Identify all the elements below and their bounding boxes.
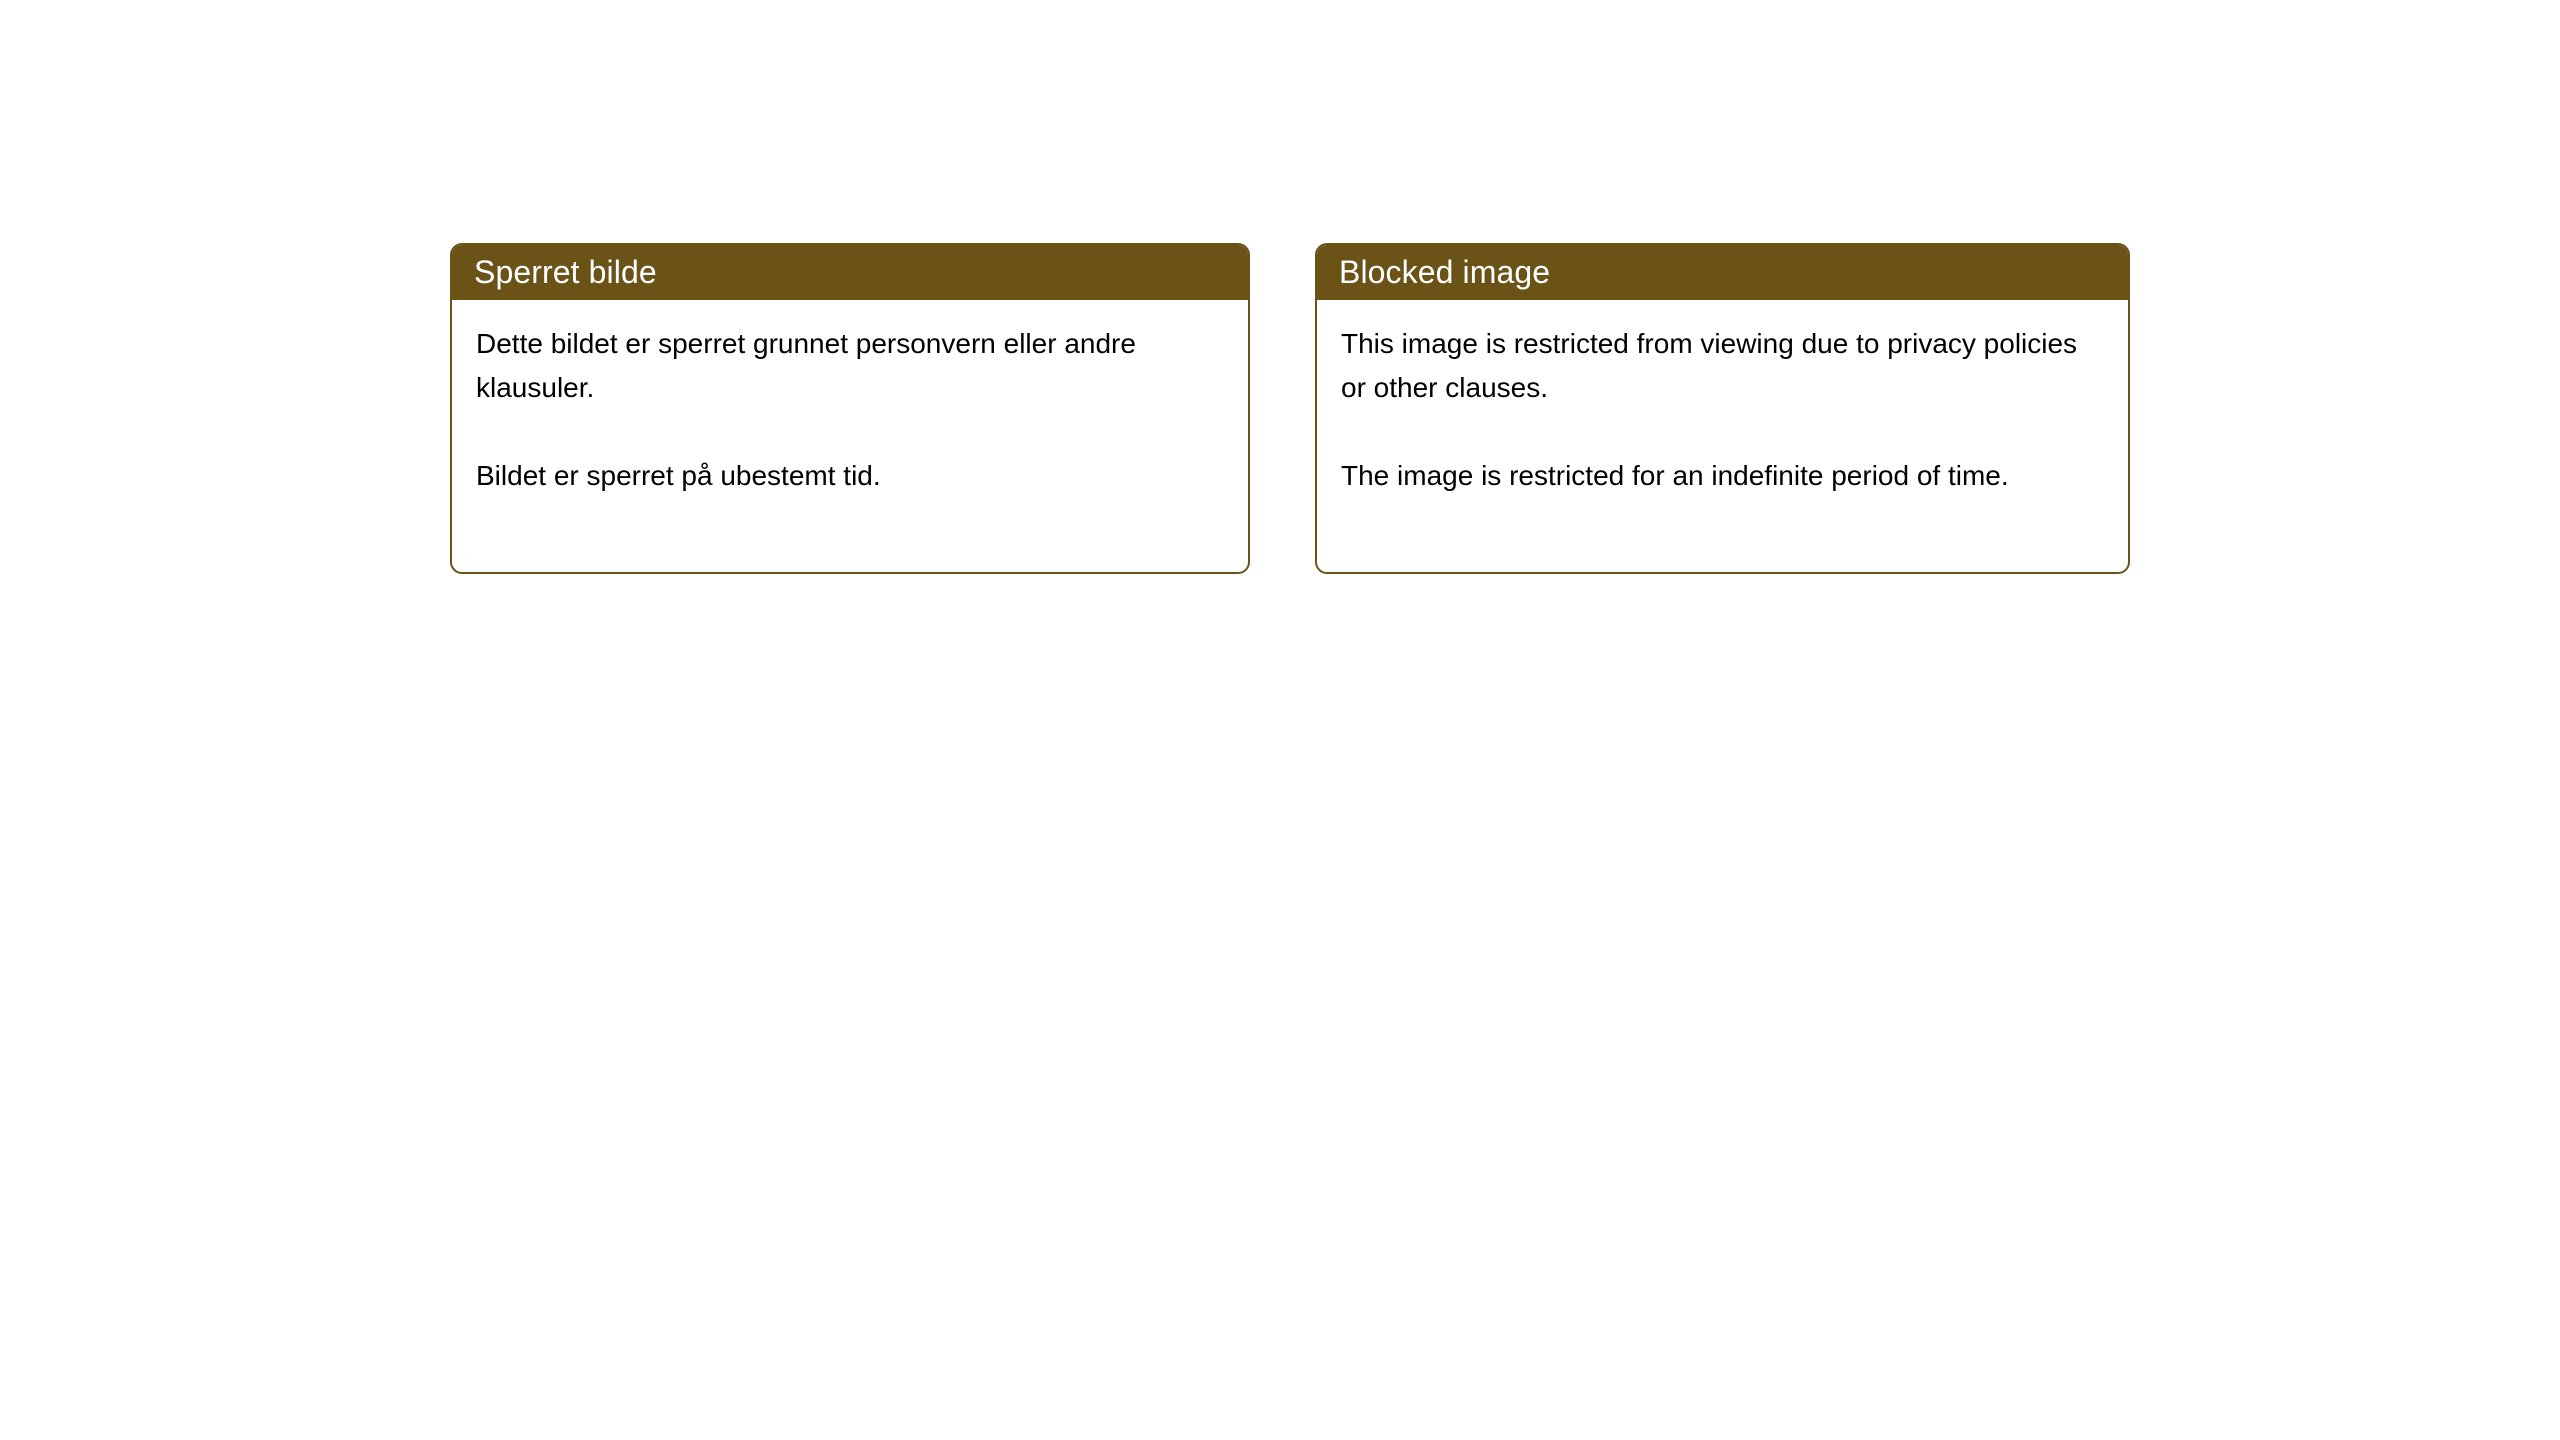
card-title-english: Blocked image — [1339, 256, 1550, 288]
card-body-english: This image is restricted from viewing du… — [1317, 300, 2128, 498]
card-header-english: Blocked image — [1315, 243, 2130, 300]
card-paragraph-primary-norwegian: Dette bildet er sperret grunnet personve… — [476, 322, 1222, 410]
card-header-norwegian: Sperret bilde — [450, 243, 1250, 300]
card-paragraph-secondary-norwegian: Bildet er sperret på ubestemt tid. — [476, 454, 1222, 498]
card-paragraph-secondary-english: The image is restricted for an indefinit… — [1341, 454, 2102, 498]
card-title-norwegian: Sperret bilde — [474, 256, 657, 288]
page-canvas: Sperret bilde Dette bildet er sperret gr… — [0, 0, 2560, 1440]
blocked-image-notice-card-norwegian: Sperret bilde Dette bildet er sperret gr… — [450, 243, 1250, 574]
card-body-norwegian: Dette bildet er sperret grunnet personve… — [452, 300, 1248, 498]
blocked-image-notice-card-english: Blocked image This image is restricted f… — [1315, 243, 2130, 574]
card-paragraph-primary-english: This image is restricted from viewing du… — [1341, 322, 2102, 410]
